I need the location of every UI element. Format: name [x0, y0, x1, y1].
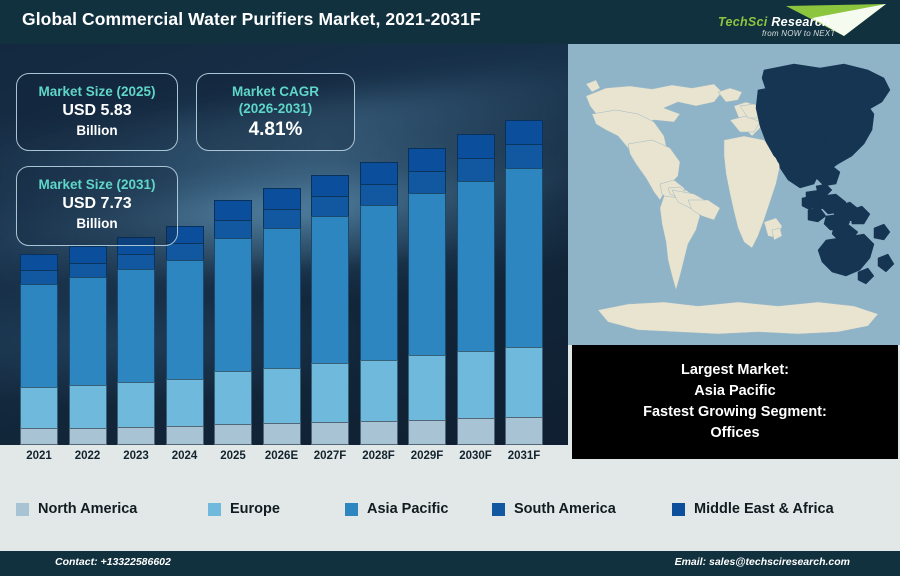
axis-tick-2025: 2025	[209, 450, 257, 462]
legend-item-middle-east-africa[interactable]: Middle East & Africa	[672, 501, 834, 517]
legend-label: Middle East & Africa	[694, 501, 834, 517]
legend-item-asia-pacific[interactable]: Asia Pacific	[345, 501, 448, 517]
legend-swatch	[208, 503, 221, 516]
legend-swatch	[16, 503, 29, 516]
kpi-unit: Billion	[17, 121, 177, 140]
bar-segment-south-america	[117, 254, 155, 270]
bar-segment-north-america	[166, 426, 204, 445]
legend-item-europe[interactable]: Europe	[208, 501, 280, 517]
axis-tick-2021: 2021	[15, 450, 63, 462]
kpi-label: Market CAGR	[197, 83, 354, 100]
highlight-info-box: Largest Market:Asia PacificFastest Growi…	[572, 345, 898, 459]
bar-segment-middle-east-africa	[360, 162, 398, 184]
bar-segment-south-america	[505, 144, 543, 168]
page-title: Global Commercial Water Purifiers Market…	[22, 9, 481, 30]
legend-label: North America	[38, 501, 137, 517]
kpi-label: Market Size (2031)	[17, 176, 177, 193]
header-bar: Global Commercial Water Purifiers Market…	[0, 0, 900, 44]
bar-2026E	[263, 188, 301, 445]
bar-2022	[69, 246, 107, 445]
infographic-page: Global Commercial Water Purifiers Market…	[0, 0, 900, 576]
bar-segment-south-america	[311, 196, 349, 216]
bar-segment-north-america	[505, 417, 543, 445]
bar-segment-asia-pacific	[20, 284, 58, 387]
bar-segment-middle-east-africa	[214, 200, 252, 220]
kpi-value: 4.81%	[197, 117, 354, 142]
world-map	[568, 44, 900, 345]
info-line-2: Fastest Growing Segment:	[643, 402, 827, 423]
bar-2023	[117, 237, 155, 445]
bar-segment-north-america	[311, 422, 349, 445]
legend-swatch	[672, 503, 685, 516]
info-line-0: Largest Market:	[681, 360, 789, 381]
chart-legend: North AmericaEuropeAsia PacificSouth Ame…	[0, 473, 900, 545]
bar-segment-middle-east-africa	[263, 188, 301, 209]
logo-text-secondary: Research	[768, 15, 830, 29]
kpi-value: USD 7.73	[17, 193, 177, 214]
bar-2029F	[408, 148, 446, 445]
bar-segment-europe	[457, 351, 495, 418]
logo-tagline: from NOW to NEXT	[762, 29, 835, 38]
bar-segment-asia-pacific	[117, 269, 155, 382]
bar-segment-south-america	[69, 263, 107, 278]
bar-segment-middle-east-africa	[69, 246, 107, 263]
bar-segment-south-america	[214, 220, 252, 238]
bar-segment-middle-east-africa	[505, 120, 543, 144]
world-map-svg	[568, 44, 900, 345]
bar-segment-europe	[166, 379, 204, 427]
bar-segment-south-america	[408, 171, 446, 193]
bar-segment-south-america	[20, 270, 58, 284]
bar-segment-north-america	[457, 418, 495, 444]
bar-segment-asia-pacific	[166, 260, 204, 379]
kpi-market-size-2031: Market Size (2031) USD 7.73 Billion	[16, 166, 178, 246]
bar-segment-north-america	[20, 428, 58, 445]
info-line-1: Asia Pacific	[694, 381, 775, 402]
logo-text-primary: TechSci	[718, 15, 768, 29]
bar-segment-asia-pacific	[214, 238, 252, 371]
bar-segment-north-america	[214, 424, 252, 445]
bar-segment-south-america	[263, 209, 301, 228]
axis-tick-2026E: 2026E	[258, 450, 306, 462]
bar-segment-north-america	[69, 428, 107, 445]
bar-segment-middle-east-africa	[457, 134, 495, 158]
kpi-label-period: (2026-2031)	[197, 100, 354, 117]
x-axis: 202120222023202420252026E2027F2028F2029F…	[0, 445, 568, 473]
bar-2024	[166, 226, 204, 445]
bar-segment-asia-pacific	[69, 277, 107, 385]
kpi-unit: Billion	[17, 214, 177, 233]
bar-segment-europe	[311, 363, 349, 421]
bar-segment-middle-east-africa	[311, 175, 349, 196]
axis-tick-2030F: 2030F	[452, 450, 500, 462]
bar-segment-asia-pacific	[408, 193, 446, 355]
legend-label: Europe	[230, 501, 280, 517]
bar-2031F	[505, 120, 543, 445]
bar-segment-north-america	[360, 421, 398, 445]
bar-segment-europe	[214, 371, 252, 424]
bar-segment-asia-pacific	[311, 216, 349, 364]
bar-segment-asia-pacific	[457, 181, 495, 351]
bar-segment-south-america	[457, 158, 495, 181]
bar-segment-south-america	[360, 184, 398, 205]
bar-segment-europe	[117, 382, 155, 427]
axis-tick-2023: 2023	[112, 450, 160, 462]
bar-segment-europe	[505, 347, 543, 418]
legend-item-south-america[interactable]: South America	[492, 501, 616, 517]
footer-contact: Contact: +13322586602	[55, 556, 171, 568]
bar-2021	[20, 254, 58, 445]
bar-segment-middle-east-africa	[408, 148, 446, 171]
legend-item-north-america[interactable]: North America	[16, 501, 137, 517]
bar-2025	[214, 200, 252, 445]
axis-tick-2022: 2022	[64, 450, 112, 462]
bar-segment-europe	[69, 385, 107, 428]
bar-segment-south-america	[166, 243, 204, 259]
brand-logo: TechSci Research from NOW to NEXT	[710, 2, 892, 42]
legend-label: South America	[514, 501, 616, 517]
legend-swatch	[492, 503, 505, 516]
axis-tick-2031F: 2031F	[500, 450, 548, 462]
bar-segment-europe	[20, 387, 58, 428]
legend-swatch	[345, 503, 358, 516]
bar-segment-north-america	[408, 420, 446, 445]
info-line-3: Offices	[710, 423, 759, 444]
footer-email: Email: sales@techsciresearch.com	[675, 556, 850, 568]
bar-2028F	[360, 162, 398, 445]
bar-2030F	[457, 134, 495, 445]
bar-segment-asia-pacific	[263, 228, 301, 368]
kpi-value: USD 5.83	[17, 100, 177, 121]
axis-tick-2028F: 2028F	[355, 450, 403, 462]
axis-tick-2027F: 2027F	[306, 450, 354, 462]
axis-tick-2029F: 2029F	[403, 450, 451, 462]
legend-label: Asia Pacific	[367, 501, 448, 517]
logo-wordmark: TechSci Research	[718, 15, 830, 29]
kpi-market-size-2025: Market Size (2025) USD 5.83 Billion	[16, 73, 178, 151]
axis-tick-2024: 2024	[161, 450, 209, 462]
bar-2027F	[311, 175, 349, 445]
footer-bar: Contact: +13322586602 Email: sales@techs…	[0, 551, 900, 576]
kpi-market-cagr: Market CAGR (2026-2031) 4.81%	[196, 73, 355, 151]
kpi-label: Market Size (2025)	[17, 83, 177, 100]
bar-segment-europe	[408, 355, 446, 419]
bar-segment-north-america	[263, 423, 301, 445]
bar-segment-middle-east-africa	[20, 254, 58, 270]
bar-segment-asia-pacific	[360, 205, 398, 360]
bar-segment-europe	[360, 360, 398, 421]
bar-segment-asia-pacific	[505, 168, 543, 346]
bar-segment-north-america	[117, 427, 155, 445]
bar-segment-europe	[263, 368, 301, 423]
